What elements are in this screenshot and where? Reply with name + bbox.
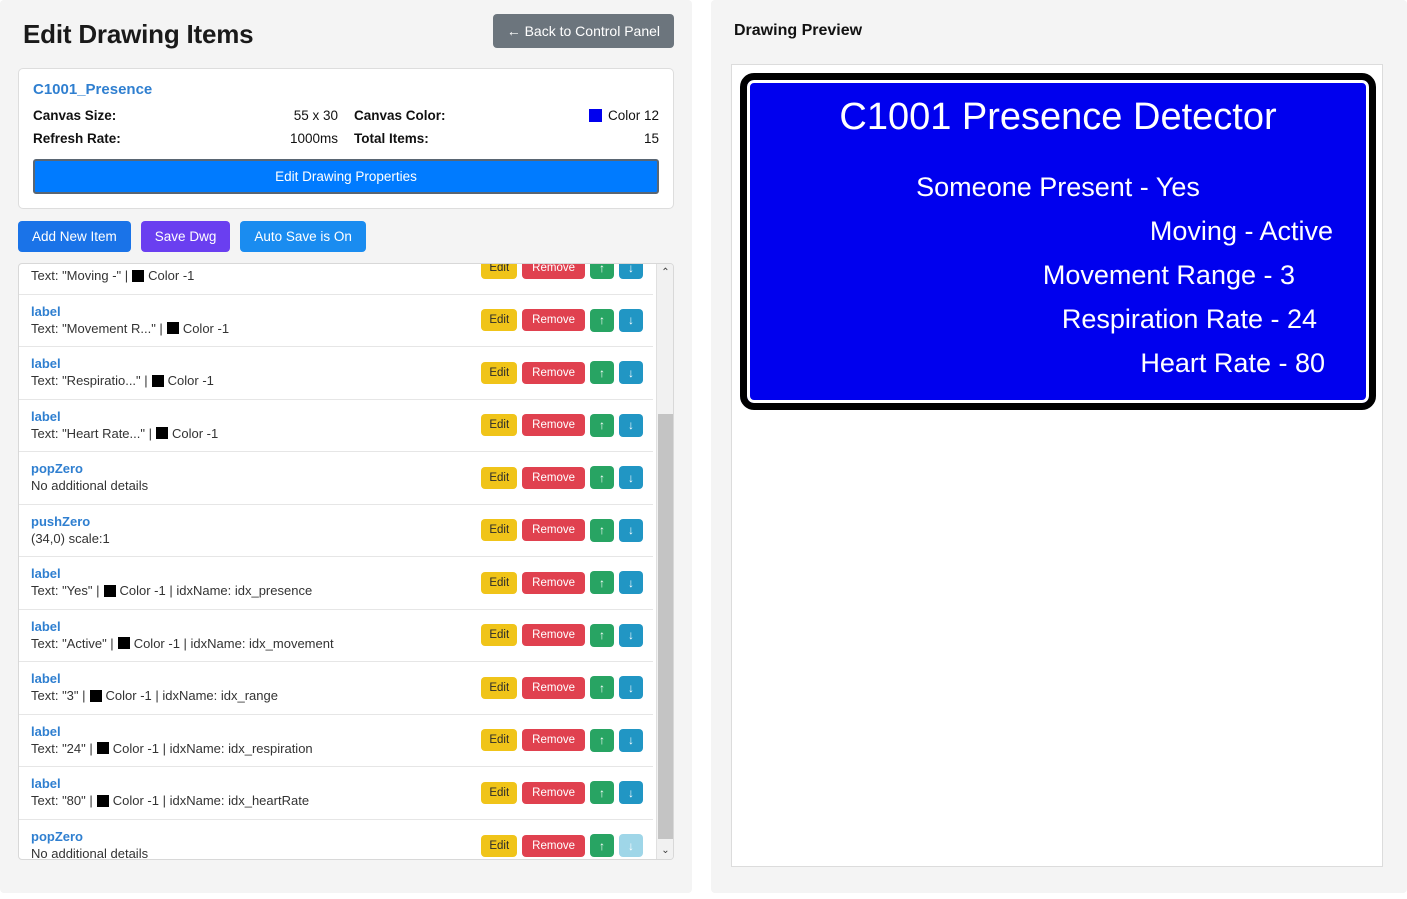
item-detail-prefix: No additional details <box>31 477 148 494</box>
item-detail: Text: "24" |Color -1 | idxName: idx_resp… <box>31 740 313 757</box>
canvas-text-movement-range: Movement Range - 3 <box>747 260 1295 291</box>
item-row: labelText: "Movement R..." |Color -1Edit… <box>19 295 653 348</box>
edit-item-button[interactable]: Edit <box>481 309 517 331</box>
item-row: popZeroNo additional detailsEditRemove↑↓ <box>19 452 653 505</box>
item-detail-suffix: Color -1 | idxName: idx_presence <box>120 582 313 599</box>
canvas-color-cell: Canvas Color: Color 12 <box>346 108 659 123</box>
item-color-swatch-icon <box>104 585 116 597</box>
panel-header: Edit Drawing Items ← Back to Control Pan… <box>18 14 674 58</box>
item-detail: Text: "80" |Color -1 | idxName: idx_hear… <box>31 792 309 809</box>
move-item-down-button[interactable]: ↓ <box>619 729 643 752</box>
item-detail-prefix: No additional details <box>31 845 148 860</box>
item-row: labelText: "3" |Color -1 | idxName: idx_… <box>19 662 653 715</box>
scrollbar-thumb[interactable] <box>658 414 674 839</box>
item-detail: No additional details <box>31 845 148 860</box>
remove-item-button[interactable]: Remove <box>522 624 585 646</box>
item-actions: EditRemove↑↓ <box>481 414 643 437</box>
item-type-label: popZero <box>31 829 148 845</box>
item-detail-prefix: Text: "Moving -" | <box>31 267 128 284</box>
item-detail: Text: "Yes" |Color -1 | idxName: idx_pre… <box>31 582 312 599</box>
item-actions: EditRemove↑↓ <box>481 624 643 647</box>
items-toolbar: Add New Item Save Dwg Auto Save is On <box>18 221 674 252</box>
drawing-canvas[interactable]: C1001 Presence Detector Someone Present … <box>740 73 1376 410</box>
item-color-swatch-icon <box>132 270 144 282</box>
item-type-label: label <box>31 671 278 687</box>
scroll-up-arrow-icon[interactable]: ⌃ <box>657 264 674 281</box>
item-row: labelText: "Heart Rate..." |Color -1Edit… <box>19 400 653 453</box>
item-detail: Text: "Moving -" |Color -1 <box>31 267 194 284</box>
item-detail: No additional details <box>31 477 148 494</box>
item-row: labelText: "Yes" |Color -1 | idxName: id… <box>19 557 653 610</box>
total-items-cell: Total Items: 15 <box>346 131 659 146</box>
move-item-down-button[interactable]: ↓ <box>619 361 643 384</box>
item-actions: EditRemove↑↓ <box>481 676 643 699</box>
back-to-control-panel-button[interactable]: ← Back to Control Panel <box>493 14 674 48</box>
item-type-label: label <box>31 304 229 320</box>
item-color-swatch-icon <box>167 322 179 334</box>
edit-item-button[interactable]: Edit <box>481 729 517 751</box>
item-row: labelText: "Moving -" |Color -1EditRemov… <box>19 263 653 295</box>
preview-title: Drawing Preview <box>734 22 1387 40</box>
drawing-preview-panel: Drawing Preview C1001 Presence Detector … <box>711 0 1407 893</box>
item-type-label: label <box>31 619 334 635</box>
move-item-down-button[interactable]: ↓ <box>619 309 643 332</box>
item-color-swatch-icon <box>118 637 130 649</box>
item-color-swatch-icon <box>90 690 102 702</box>
item-detail: Text: "Active" |Color -1 | idxName: idx_… <box>31 635 334 652</box>
item-text: labelText: "80" |Color -1 | idxName: idx… <box>31 776 309 809</box>
move-item-down-button[interactable]: ↓ <box>619 414 643 437</box>
move-item-up-button[interactable]: ↑ <box>590 361 614 384</box>
item-row: popZeroNo additional detailsEditRemove↑↓ <box>19 820 653 861</box>
item-text: labelText: "24" |Color -1 | idxName: idx… <box>31 724 313 757</box>
drawing-name: C1001_Presence <box>33 81 659 98</box>
save-drawing-button[interactable]: Save Dwg <box>141 221 231 252</box>
edit-items-panel: Edit Drawing Items ← Back to Control Pan… <box>0 0 692 893</box>
item-row: labelText: "80" |Color -1 | idxName: idx… <box>19 767 653 820</box>
item-actions: EditRemove↑↓ <box>481 729 643 752</box>
total-items-value: 15 <box>644 131 659 146</box>
item-detail-suffix: Color -1 | idxName: idx_heartRate <box>113 792 309 809</box>
app-root: Edit Drawing Items ← Back to Control Pan… <box>0 0 1407 899</box>
item-detail-suffix: Color -1 | idxName: idx_movement <box>134 635 334 652</box>
refresh-rate-cell: Refresh Rate: 1000ms <box>33 131 346 146</box>
item-row: labelText: "24" |Color -1 | idxName: idx… <box>19 715 653 768</box>
item-detail-prefix: Text: "Yes" | <box>31 582 100 599</box>
edit-item-button[interactable]: Edit <box>481 835 517 857</box>
canvas-text-respiration-rate: Respiration Rate - 24 <box>747 304 1317 335</box>
item-row: labelText: "Active" |Color -1 | idxName:… <box>19 610 653 663</box>
remove-item-button[interactable]: Remove <box>522 467 585 489</box>
canvas-text-title: C1001 Presence Detector <box>747 96 1369 139</box>
item-type-label: label <box>31 776 309 792</box>
item-detail-prefix: Text: "Movement R..." | <box>31 320 163 337</box>
remove-item-button[interactable]: Remove <box>522 519 585 541</box>
remove-item-button[interactable]: Remove <box>522 729 585 751</box>
item-detail-suffix: Color -1 | idxName: idx_range <box>106 687 278 704</box>
item-detail-prefix: Text: "80" | <box>31 792 93 809</box>
item-detail-suffix: Color -1 <box>172 425 218 442</box>
drawing-info-card: C1001_Presence Canvas Size: 55 x 30 Canv… <box>18 68 674 209</box>
page-title: Edit Drawing Items <box>23 19 253 50</box>
item-actions: EditRemove↑↓ <box>481 263 643 279</box>
item-detail: Text: "3" |Color -1 | idxName: idx_range <box>31 687 278 704</box>
item-detail-suffix: Color -1 | idxName: idx_respiration <box>113 740 313 757</box>
edit-item-button[interactable]: Edit <box>481 677 517 699</box>
move-item-up-button[interactable]: ↑ <box>590 624 614 647</box>
item-detail-prefix: Text: "Active" | <box>31 635 114 652</box>
item-text: labelText: "Movement R..." |Color -1 <box>31 304 229 337</box>
remove-item-button[interactable]: Remove <box>522 263 585 279</box>
item-actions: EditRemove↑↓ <box>481 519 643 542</box>
item-type-label: pushZero <box>31 514 110 530</box>
item-text: labelText: "Moving -" |Color -1 <box>31 263 194 284</box>
move-item-up-button[interactable]: ↑ <box>590 676 614 699</box>
edit-item-button[interactable]: Edit <box>481 519 517 541</box>
item-detail-suffix: Color -1 <box>183 320 229 337</box>
scroll-down-arrow-icon[interactable]: ⌄ <box>657 842 674 859</box>
item-type-label: label <box>31 724 313 740</box>
item-color-swatch-icon <box>97 742 109 754</box>
item-detail: (34,0) scale:1 <box>31 530 110 547</box>
move-item-up-button[interactable]: ↑ <box>590 834 614 857</box>
canvas-text-heart-rate: Heart Rate - 80 <box>747 348 1325 379</box>
item-text: labelText: "Yes" |Color -1 | idxName: id… <box>31 566 312 599</box>
move-item-down-button[interactable]: ↓ <box>619 466 643 489</box>
remove-item-button[interactable]: Remove <box>522 782 585 804</box>
remove-item-button[interactable]: Remove <box>522 835 585 857</box>
edit-item-button[interactable]: Edit <box>481 624 517 646</box>
drawing-info-grid: Canvas Size: 55 x 30 Canvas Color: Color… <box>33 108 659 146</box>
item-text: pushZero(34,0) scale:1 <box>31 514 110 547</box>
remove-item-button[interactable]: Remove <box>522 677 585 699</box>
auto-save-toggle-button[interactable]: Auto Save is On <box>240 221 366 252</box>
edit-item-button[interactable]: Edit <box>481 263 517 279</box>
item-text: labelText: "3" |Color -1 | idxName: idx_… <box>31 671 278 704</box>
items-list: labelText: "Moving -" |Color -1EditRemov… <box>19 263 653 860</box>
item-detail: Text: "Respiratio..." |Color -1 <box>31 372 214 389</box>
canvas-color-value: Color 12 <box>608 108 659 123</box>
move-item-up-button[interactable]: ↑ <box>590 466 614 489</box>
item-actions: EditRemove↑↓ <box>481 309 643 332</box>
item-row: pushZero(34,0) scale:1EditRemove↑↓ <box>19 505 653 558</box>
move-item-up-button[interactable]: ↑ <box>590 309 614 332</box>
item-detail-prefix: Text: "Heart Rate..." | <box>31 425 152 442</box>
canvas-text-moving: Moving - Active <box>747 216 1333 247</box>
items-scrollbar[interactable]: ⌃ ⌄ <box>656 264 673 859</box>
remove-item-button[interactable]: Remove <box>522 414 585 436</box>
canvas-color-swatch-icon <box>589 109 602 122</box>
move-item-down-button[interactable]: ↓ <box>619 676 643 699</box>
canvas-text-presence: Someone Present - Yes <box>747 172 1369 203</box>
item-text: popZeroNo additional details <box>31 461 148 494</box>
move-item-down-button[interactable]: ↓ <box>619 263 643 279</box>
item-detail-prefix: Text: "24" | <box>31 740 93 757</box>
item-actions: EditRemove↑↓ <box>481 571 643 594</box>
refresh-rate-label: Refresh Rate: <box>33 131 121 146</box>
canvas-color-swatch-wrap: Color 12 <box>589 108 659 123</box>
edit-item-button[interactable]: Edit <box>481 467 517 489</box>
item-type-label: label <box>31 356 214 372</box>
item-text: labelText: "Active" |Color -1 | idxName:… <box>31 619 334 652</box>
move-item-up-button[interactable]: ↑ <box>590 571 614 594</box>
edit-drawing-properties-button[interactable]: Edit Drawing Properties <box>33 159 659 194</box>
total-items-label: Total Items: <box>354 131 429 146</box>
item-actions: EditRemove↑↓ <box>481 361 643 384</box>
items-list-container: labelText: "Moving -" |Color -1EditRemov… <box>18 263 674 860</box>
item-detail: Text: "Heart Rate..." |Color -1 <box>31 425 218 442</box>
remove-item-button[interactable]: Remove <box>522 572 585 594</box>
move-item-down-button[interactable]: ↓ <box>619 834 643 857</box>
move-item-up-button[interactable]: ↑ <box>590 729 614 752</box>
item-detail: Text: "Movement R..." |Color -1 <box>31 320 229 337</box>
item-detail-prefix: Text: "3" | <box>31 687 86 704</box>
item-text: labelText: "Heart Rate..." |Color -1 <box>31 409 218 442</box>
move-item-down-button[interactable]: ↓ <box>619 519 643 542</box>
edit-item-button[interactable]: Edit <box>481 362 517 384</box>
item-type-label: label <box>31 409 218 425</box>
item-detail-suffix: Color -1 <box>168 372 214 389</box>
edit-item-button[interactable]: Edit <box>481 572 517 594</box>
item-color-swatch-icon <box>97 795 109 807</box>
refresh-rate-value: 1000ms <box>290 131 338 146</box>
item-actions: EditRemove↑↓ <box>481 781 643 804</box>
item-actions: EditRemove↑↓ <box>481 834 643 857</box>
item-actions: EditRemove↑↓ <box>481 466 643 489</box>
item-type-label: label <box>31 566 312 582</box>
item-type-label: popZero <box>31 461 148 477</box>
remove-item-button[interactable]: Remove <box>522 362 585 384</box>
canvas-size-value: 55 x 30 <box>294 108 338 123</box>
item-detail-suffix: Color -1 <box>148 267 194 284</box>
edit-item-button[interactable]: Edit <box>481 782 517 804</box>
move-item-down-button[interactable]: ↓ <box>619 781 643 804</box>
item-row: labelText: "Respiratio..." |Color -1Edit… <box>19 347 653 400</box>
move-item-up-button[interactable]: ↑ <box>590 781 614 804</box>
item-color-swatch-icon <box>152 375 164 387</box>
preview-surface: C1001 Presence Detector Someone Present … <box>731 64 1383 867</box>
canvas-size-cell: Canvas Size: 55 x 30 <box>33 108 346 123</box>
move-item-up-button[interactable]: ↑ <box>590 263 614 279</box>
canvas-size-label: Canvas Size: <box>33 108 116 123</box>
remove-item-button[interactable]: Remove <box>522 309 585 331</box>
add-new-item-button[interactable]: Add New Item <box>18 221 131 252</box>
edit-item-button[interactable]: Edit <box>481 414 517 436</box>
item-detail-prefix: Text: "Respiratio..." | <box>31 372 148 389</box>
item-detail-prefix: (34,0) scale:1 <box>31 530 110 547</box>
item-text: labelText: "Respiratio..." |Color -1 <box>31 356 214 389</box>
move-item-up-button[interactable]: ↑ <box>590 519 614 542</box>
item-text: popZeroNo additional details <box>31 829 148 860</box>
item-color-swatch-icon <box>156 427 168 439</box>
canvas-color-label: Canvas Color: <box>354 108 446 123</box>
move-item-down-button[interactable]: ↓ <box>619 624 643 647</box>
move-item-up-button[interactable]: ↑ <box>590 414 614 437</box>
move-item-down-button[interactable]: ↓ <box>619 571 643 594</box>
